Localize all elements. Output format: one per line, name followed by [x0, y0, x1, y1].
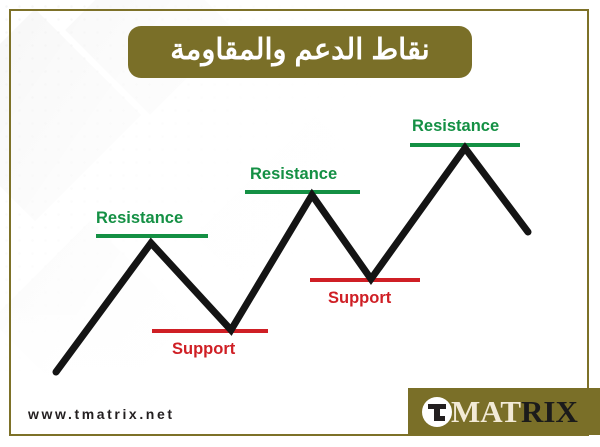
support-label-2: Support [328, 290, 391, 307]
brand-logo[interactable]: MATRIX [408, 388, 600, 435]
website-url[interactable]: www.tmatrix.net [28, 406, 175, 422]
resistance-label-2: Resistance [250, 166, 337, 183]
brand-wordmark-dark: RIX [521, 394, 578, 429]
support-label-1: Support [172, 341, 235, 358]
resistance-label-1: Resistance [96, 210, 183, 227]
t-circle-icon [422, 397, 452, 427]
resistance-label-3: Resistance [412, 118, 499, 135]
brand-wordmark: MATRIX [451, 396, 578, 427]
infographic-canvas: نقاط الدعم والمقاومة Resistance Support … [0, 0, 600, 447]
brand-wordmark-light: MAT [451, 394, 521, 429]
price-chart [0, 0, 600, 447]
